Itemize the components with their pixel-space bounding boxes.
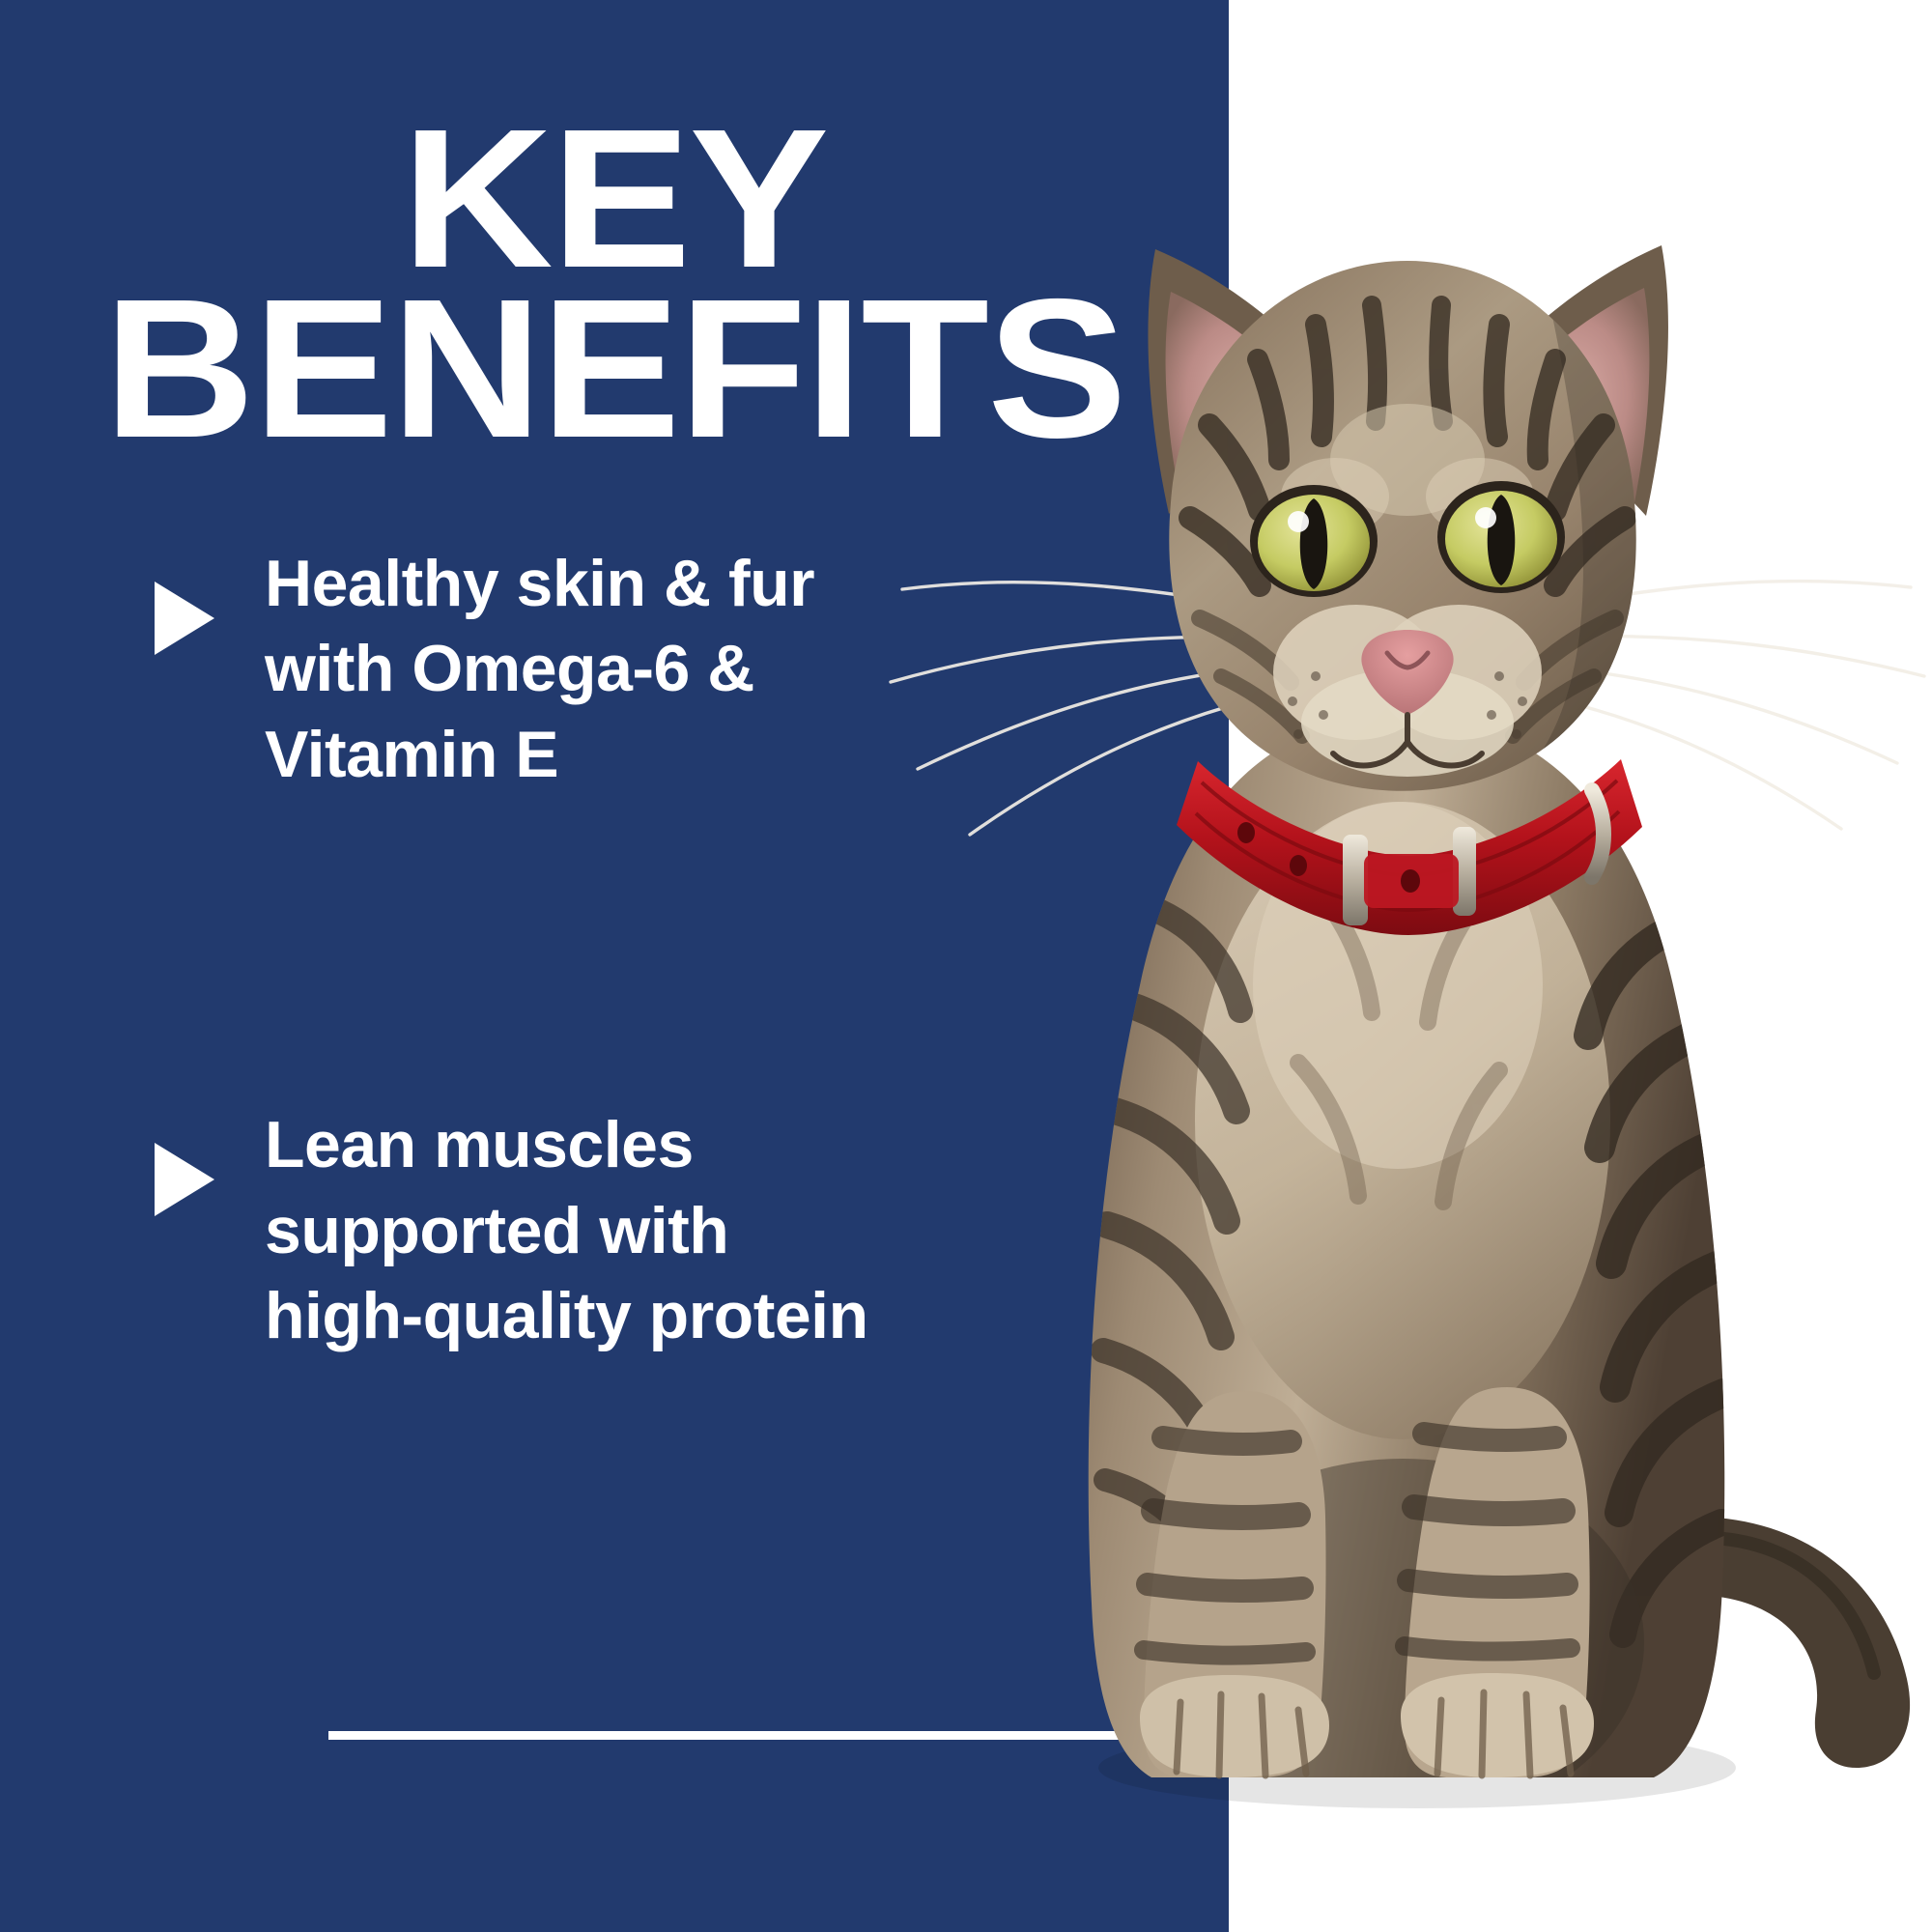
benefit-1-text: Healthy skin & fur with Omega-6 & Vitami… (265, 541, 814, 797)
benefit-2-line-3: high-quality protein (265, 1273, 868, 1358)
cat-illustration (862, 135, 1932, 1864)
key-benefits-card: KEY BENEFITS Healthy skin & fur with Ome… (0, 0, 1932, 1932)
benefit-2-text: Lean muscles supported with high-quality… (265, 1102, 868, 1358)
benefit-1-line-1: Healthy skin & fur (265, 541, 814, 626)
benefit-2-line-1: Lean muscles (265, 1102, 868, 1187)
benefit-2-line-2: supported with (265, 1188, 868, 1273)
benefit-1-line-3: Vitamin E (265, 712, 814, 797)
cat-tail (1692, 1517, 1910, 1768)
cat-photo (1229, 0, 1932, 1932)
triangle-bullet-icon (155, 582, 224, 655)
triangle-bullet-icon (155, 1143, 224, 1216)
benefit-1-line-2: with Omega-6 & (265, 626, 814, 711)
